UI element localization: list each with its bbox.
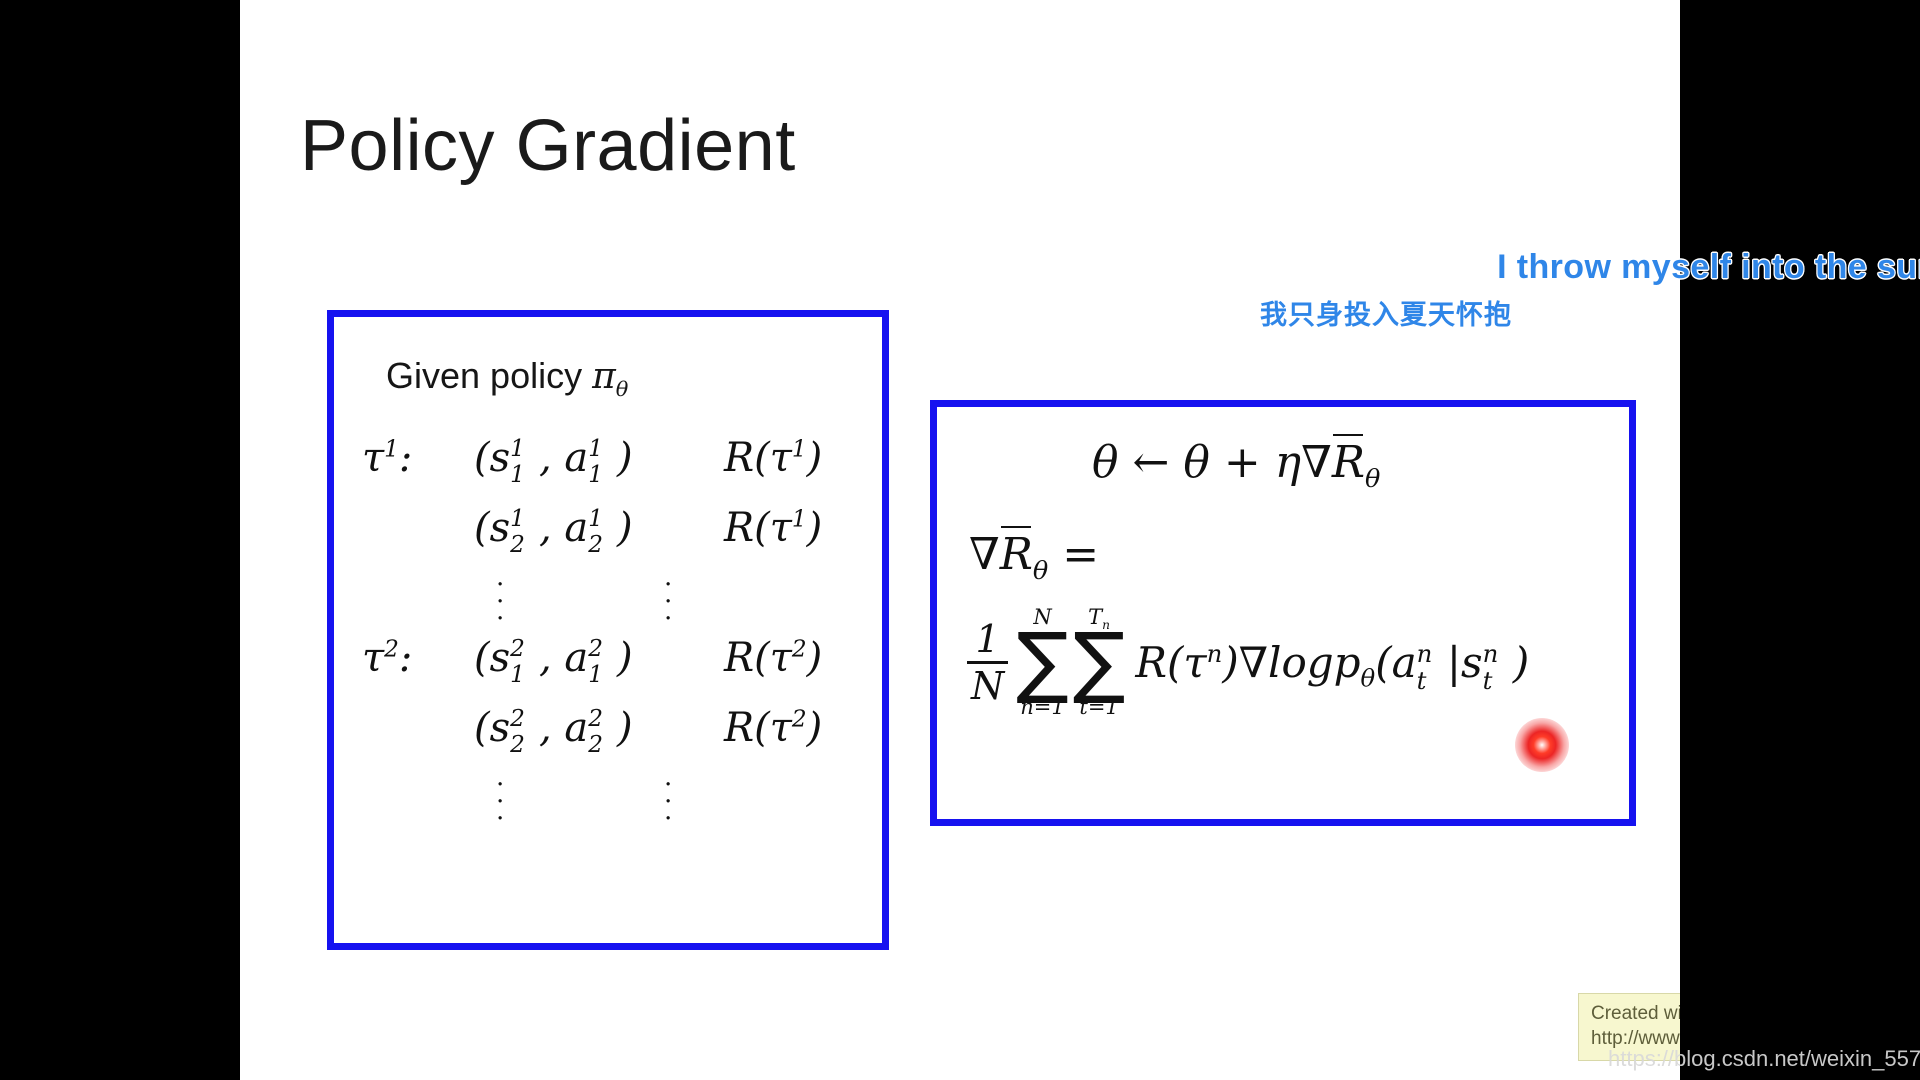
video-player-stage: Policy Gradient Given policy πθ τ1: (s11… — [0, 0, 1920, 1080]
trajectory-reward: R(τ1) — [724, 435, 822, 481]
csdn-blog-watermark: https://blog.csdn.net/weixin_55703970 — [1608, 1046, 1920, 1072]
one-over-n-fraction: 1 N — [967, 620, 1008, 705]
state-action-pair: (s12, a12) — [474, 505, 724, 551]
given-policy-text: Given policy — [386, 355, 592, 396]
trajectory-reward: R(τ1) — [724, 505, 822, 551]
trajectory-reward: R(τ2) — [724, 635, 822, 681]
vertical-ellipsis: ... — [664, 569, 672, 620]
vertical-ellipsis: ... — [496, 569, 504, 620]
trajectory-label: τ2: — [362, 635, 474, 681]
trajectory-row: (s12, a12) R(τ1) — [362, 505, 822, 551]
state-action-pair: (s21, a21) — [474, 635, 724, 681]
nabla-icon: ∇ — [1301, 437, 1332, 488]
vertical-ellipsis: ... — [664, 769, 672, 820]
trajectory-row: τ1: (s11, a11) R(τ1) — [362, 435, 822, 481]
trajectory-row: (s22, a22) R(τ2) — [362, 705, 822, 751]
summation-over-t: Tn ∑ t=1 — [1073, 607, 1126, 718]
pi-symbol: π — [592, 356, 616, 397]
trajectory-samples-box: Given policy πθ τ1: (s11, a11) R(τ1) (s1… — [327, 310, 889, 950]
pi-subscript-theta: θ — [616, 377, 629, 401]
given-policy-heading: Given policy πθ — [386, 355, 628, 397]
gradient-formula-box: θ ← θ + η∇Rθ ∇Rθ = 1 N N ∑ — [930, 400, 1636, 826]
sigma-icon: ∑ — [1016, 628, 1069, 697]
vertical-ellipsis: ... — [496, 769, 504, 820]
gradient-rhs-expression: 1 N N ∑ n=1 Tn ∑ t=1 R(τn)∇logpθ(ant|snt… — [967, 607, 1529, 718]
sigma-icon: ∑ — [1073, 628, 1126, 697]
page-title: Policy Gradient — [300, 105, 796, 187]
state-action-pair: (s22, a22) — [474, 705, 724, 751]
state-action-pair: (s11, a11) — [474, 435, 724, 481]
presentation-slide: Policy Gradient Given policy πθ τ1: (s11… — [240, 0, 1680, 1080]
trajectory-row: τ2: (s21, a21) R(τ2) — [362, 635, 822, 681]
summation-over-n: N ∑ n=1 — [1016, 607, 1069, 718]
trajectory-reward: R(τ2) — [724, 705, 822, 751]
evercam-line1: Created with EverCam. — [1591, 1001, 1680, 1026]
trajectory-label: τ1: — [362, 435, 474, 481]
nabla-icon: ∇ — [1239, 638, 1268, 687]
nabla-icon: ∇ — [969, 529, 1000, 580]
log-probability-term: R(τn)∇logpθ(ant|snt) — [1135, 638, 1529, 687]
parameter-update-rule: θ ← θ + η∇Rθ — [1092, 437, 1380, 488]
gradient-lhs: ∇Rθ = — [969, 529, 1099, 580]
